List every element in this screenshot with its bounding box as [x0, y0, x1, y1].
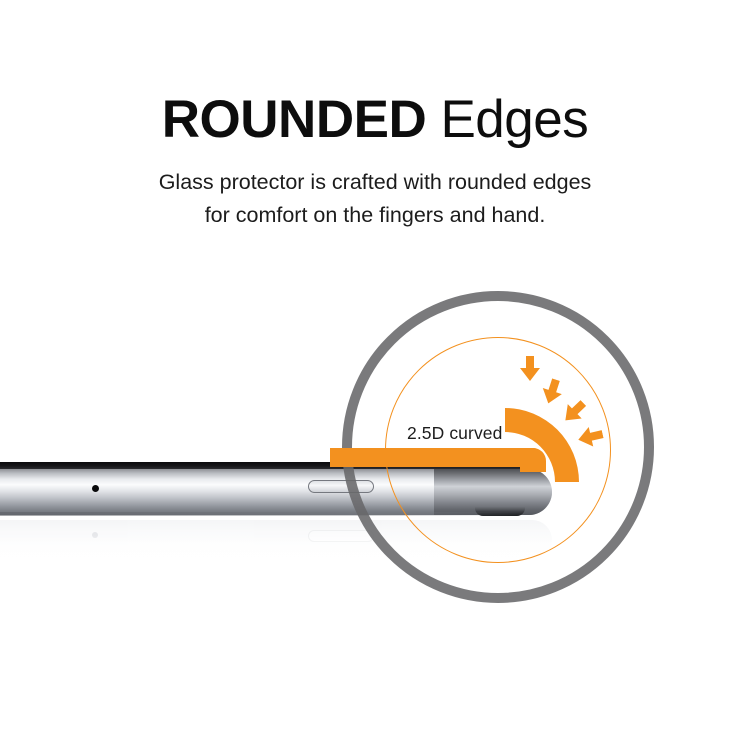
- product-feature-image: ROUNDED Edges Glass protector is crafted…: [0, 0, 750, 750]
- microphone-hole-icon: [92, 485, 99, 492]
- illustration-scene: 2.5D curved: [0, 0, 750, 750]
- callout-label: 2.5D curved: [407, 423, 502, 444]
- arrow-down-icon: [519, 356, 541, 382]
